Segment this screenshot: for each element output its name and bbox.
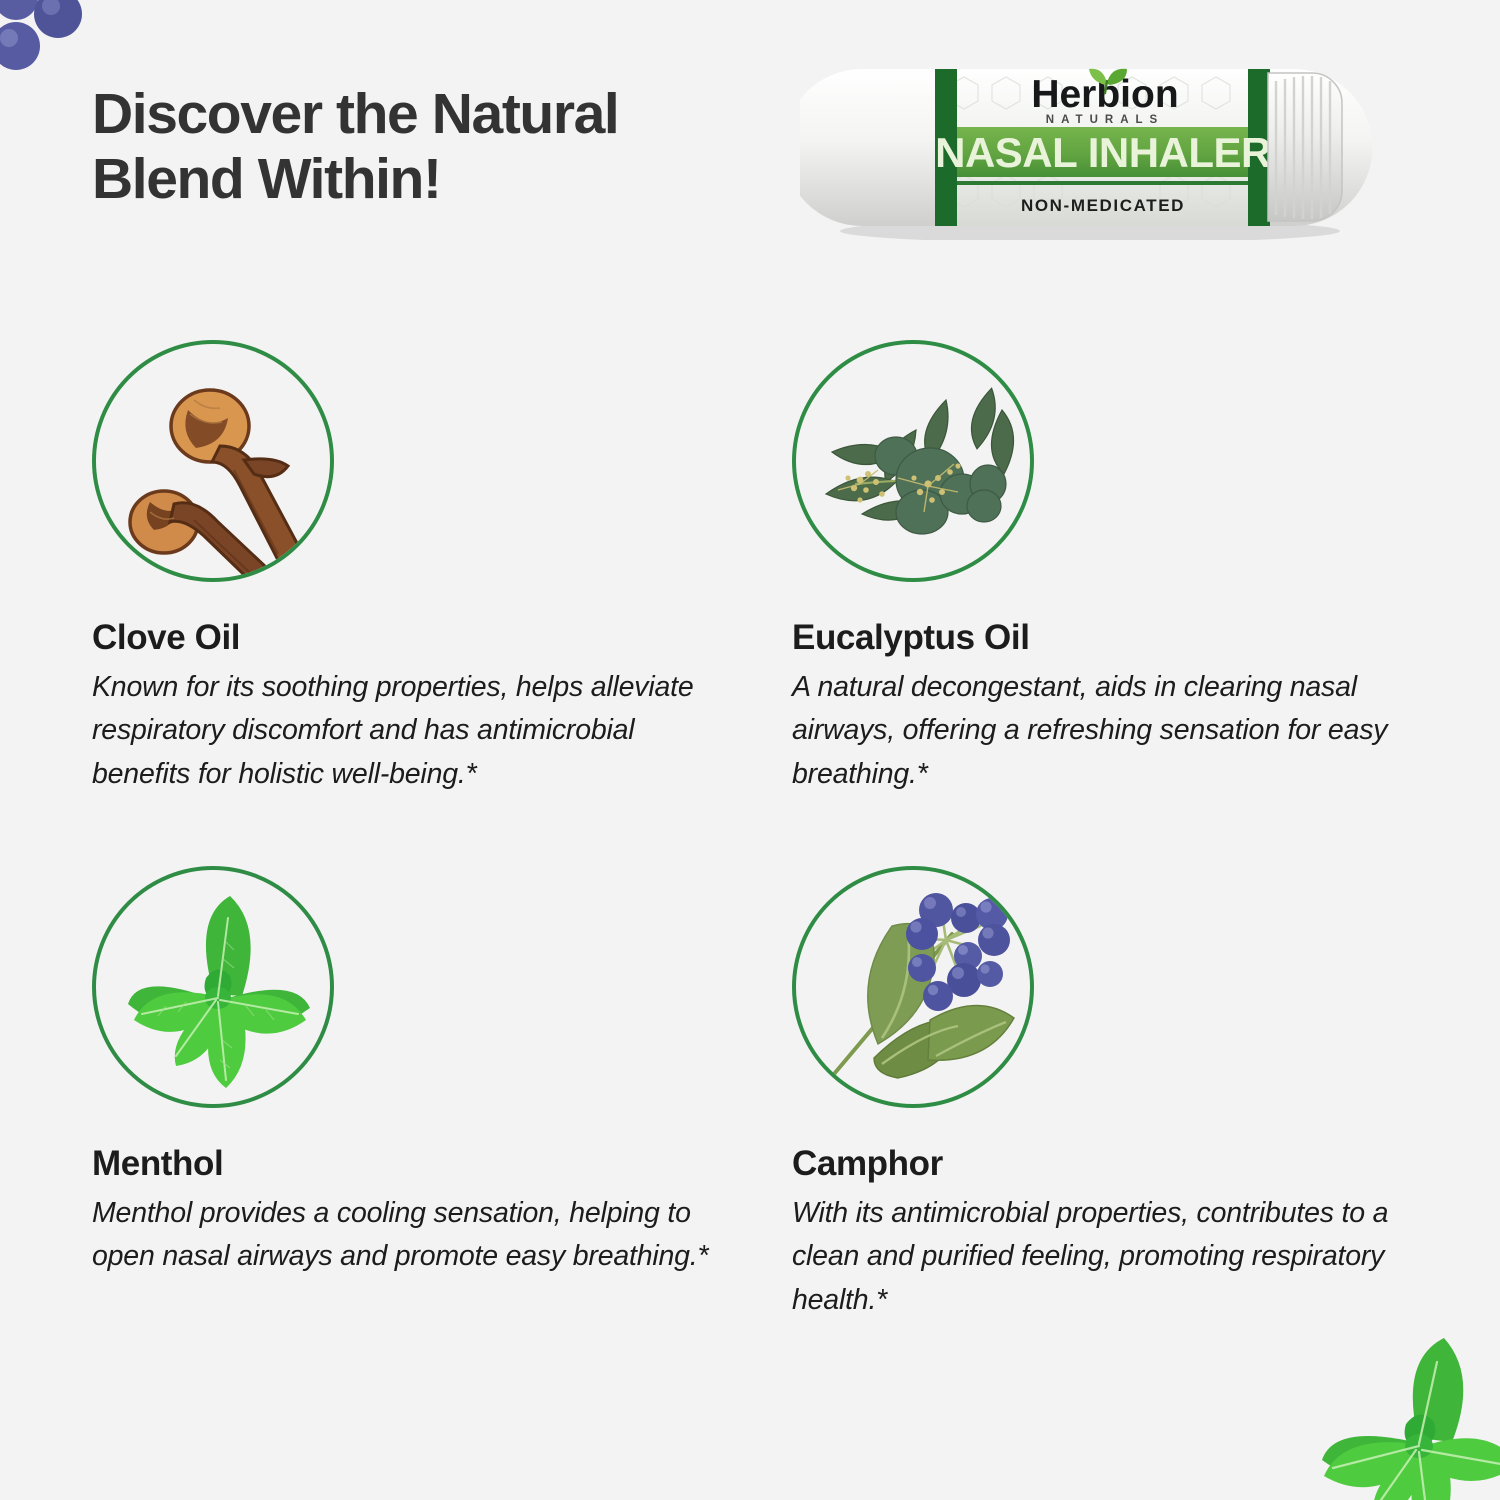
mint-leaves-decoration [1288, 1320, 1500, 1500]
feature-title: Camphor [792, 1144, 1452, 1184]
feature-title: Menthol [92, 1144, 752, 1184]
infographic-page: Discover the Natural Blend Within! [0, 0, 1500, 1500]
product-tagline-text: NON-MEDICATED [1021, 196, 1185, 215]
feature-description: Known for its soothing properties, helps… [92, 666, 717, 796]
inhaler-cap [1268, 73, 1342, 221]
product-image: Herbion NATURALS NASAL INHALER NON-MEDIC… [800, 55, 1380, 240]
eucalyptus-leaves-icon [792, 340, 1034, 582]
feature-camphor: Camphor With its antimicrobial propertie… [792, 866, 1452, 1322]
product-name-text: NASAL INHALER [935, 129, 1271, 176]
feature-eucalyptus: Eucalyptus Oil A natural decongestant, a… [792, 340, 1452, 796]
feature-title: Eucalyptus Oil [792, 618, 1452, 658]
mint-leaves-icon [92, 866, 334, 1108]
feature-menthol: Menthol Menthol provides a cooling sensa… [92, 866, 752, 1279]
feature-description: Menthol provides a cooling sensation, he… [92, 1192, 717, 1279]
product-brand-sub-text: NATURALS [1046, 114, 1164, 126]
page-title: Discover the Natural Blend Within! [92, 82, 752, 212]
clove-bud-icon [92, 340, 334, 582]
camphor-branch-icon [792, 866, 1034, 1108]
page-title-line-2: Blend Within! [92, 147, 752, 212]
feature-description: A natural decongestant, aids in clearing… [792, 666, 1392, 796]
page-title-line-1: Discover the Natural [92, 82, 752, 147]
feature-title: Clove Oil [92, 618, 752, 658]
feature-description: With its antimicrobial properties, contr… [792, 1192, 1392, 1322]
feature-clove: Clove Oil Known for its soothing propert… [92, 340, 752, 796]
